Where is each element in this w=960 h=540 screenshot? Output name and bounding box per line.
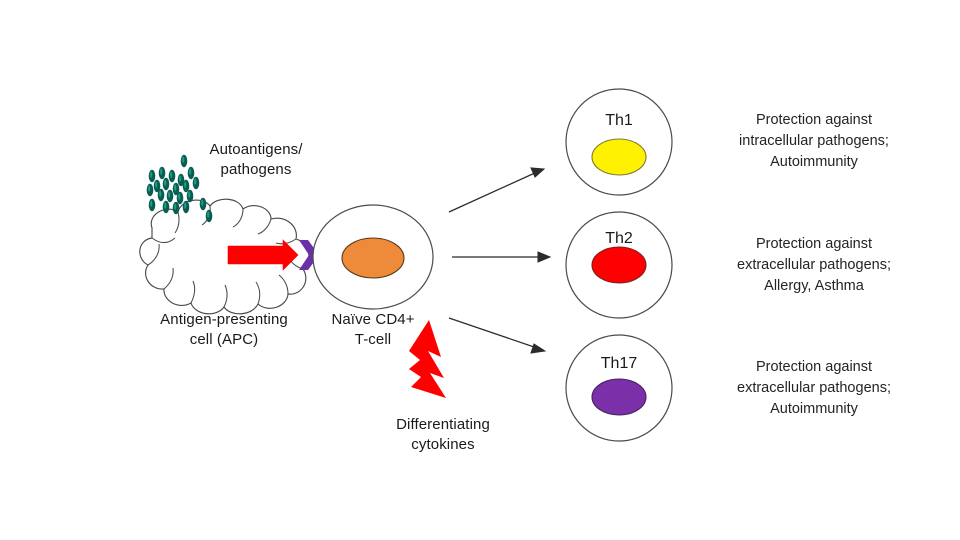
th1-cell-shape: [566, 89, 672, 195]
th2-cell-shape: [566, 212, 672, 318]
autoantigens-label: Autoantigens/ pathogens: [186, 140, 326, 180]
th1-nucleus: [592, 139, 646, 175]
th1-outcome-text: Protection against intracellular pathoge…: [700, 110, 928, 173]
th17-nucleus: [592, 379, 646, 415]
th1-name-label: Th1: [579, 112, 659, 130]
th17-cell-shape: [566, 335, 672, 441]
th17-outcome-text: Protection against extracellular pathoge…: [700, 357, 928, 420]
differentiation-arrows-group: [449, 168, 550, 353]
diagram-canvas: Autoantigens/ pathogens Antigen-presenti…: [0, 0, 960, 540]
naive-tcell-nucleus: [342, 238, 404, 278]
th2-outcome-text: Protection against extracellular pathoge…: [700, 234, 928, 297]
th2-nucleus: [592, 247, 646, 283]
th17-name-label: Th17: [579, 355, 659, 373]
cytokines-label: Differentiating cytokines: [373, 415, 513, 455]
naive-tcell-label: Naïve CD4+ T-cell: [303, 310, 443, 350]
naive-tcell-shape: [313, 205, 433, 309]
th2-name-label: Th2: [579, 230, 659, 248]
